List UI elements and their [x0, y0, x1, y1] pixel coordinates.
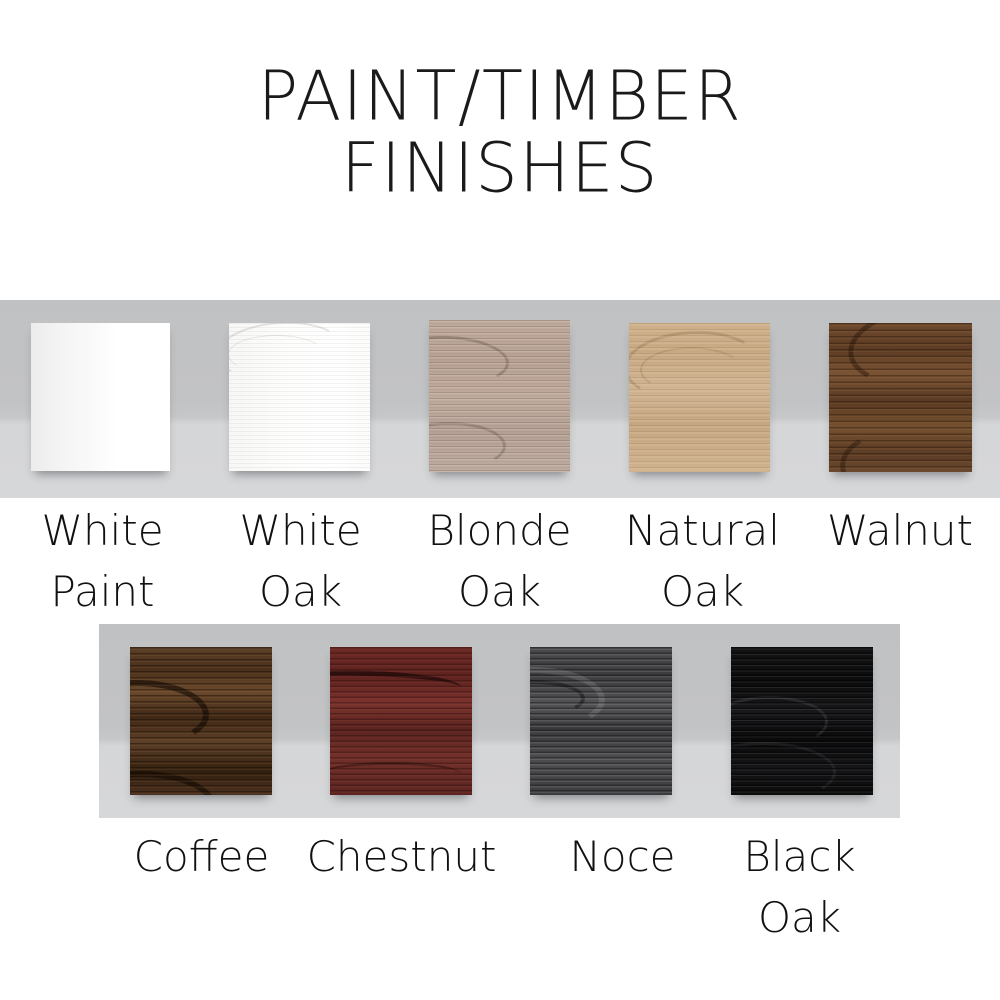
- swatch-label-chestnut: Chestnut: [299, 826, 504, 887]
- swatch-white-paint[interactable]: [31, 323, 170, 471]
- swatch-coffee[interactable]: [130, 647, 272, 795]
- swatch-surface-blonde-oak: [429, 320, 570, 472]
- swatch-label-noce: Noce: [520, 826, 725, 887]
- swatch-label-natural-oak: Natural Oak: [600, 500, 805, 622]
- swatch-walnut[interactable]: [829, 323, 972, 472]
- swatch-label-walnut: Walnut: [800, 500, 1000, 561]
- swatch-white-oak[interactable]: [229, 323, 370, 471]
- swatch-surface-walnut: [829, 323, 972, 472]
- page-title-line-1: PAINT/TIMBER: [0, 59, 1000, 132]
- wood-grain-lines: [130, 647, 272, 795]
- swatch-blonde-oak[interactable]: [429, 320, 570, 472]
- swatch-surface-white-oak: [229, 323, 370, 471]
- swatch-label-blonde-oak: Blonde Oak: [397, 500, 602, 622]
- swatch-surface-natural-oak: [629, 323, 770, 472]
- wood-grain-lines: [229, 323, 370, 471]
- wood-grain-lines: [330, 647, 472, 795]
- wood-grain-lines: [429, 320, 570, 472]
- page-title-line-2: FINISHES: [0, 131, 1000, 204]
- swatch-label-coffee: Coffee: [99, 826, 304, 887]
- swatch-label-black-oak: Black Oak: [697, 826, 902, 948]
- swatch-surface-white-paint: [31, 323, 170, 471]
- swatch-chestnut[interactable]: [330, 647, 472, 795]
- wood-grain-lines: [530, 647, 672, 795]
- page-title: PAINT/TIMBER FINISHES: [0, 60, 1000, 204]
- swatch-surface-noce: [530, 647, 672, 795]
- wood-grain-lines: [829, 323, 972, 472]
- swatch-surface-black-oak: [731, 647, 873, 795]
- wood-grain-lines: [731, 647, 873, 795]
- wood-grain-lines: [629, 323, 770, 472]
- swatch-surface-chestnut: [330, 647, 472, 795]
- swatch-natural-oak[interactable]: [629, 323, 770, 472]
- swatch-label-white-paint: White Paint: [0, 500, 205, 622]
- finishes-board: PAINT/TIMBER FINISHES White Paint White: [0, 0, 1000, 1000]
- swatch-noce[interactable]: [530, 647, 672, 795]
- swatch-label-white-oak: White Oak: [198, 500, 403, 622]
- swatch-black-oak[interactable]: [731, 647, 873, 795]
- swatch-surface-coffee: [130, 647, 272, 795]
